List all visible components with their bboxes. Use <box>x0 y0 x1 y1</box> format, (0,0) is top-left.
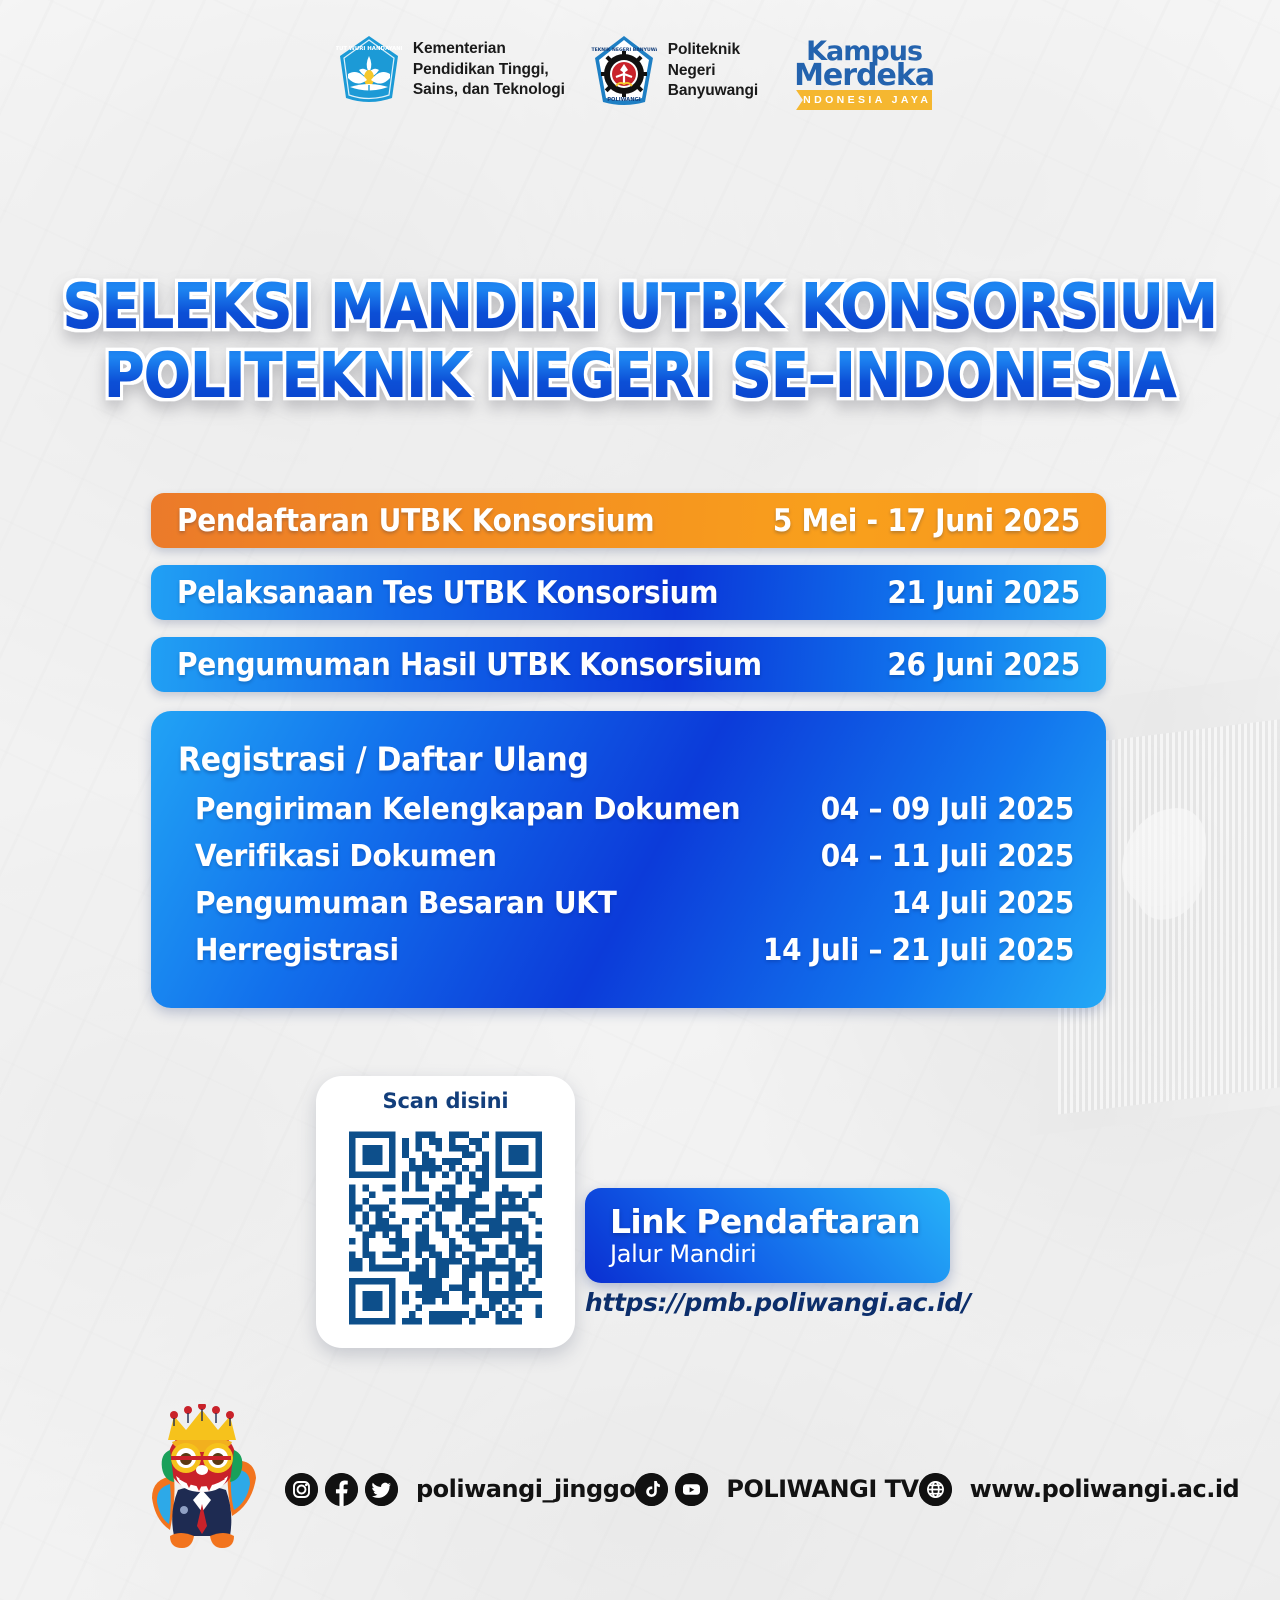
kampus-merdeka-logo: Kampus Merdeka INDONESIA JAYA <box>784 34 944 112</box>
qr-code-image[interactable] <box>349 1124 542 1332</box>
kampus-merdeka-ribbon: INDONESIA JAYA <box>796 90 932 110</box>
twitter-icon[interactable] <box>365 1473 398 1506</box>
registration-row: Verifikasi Dokumen 04 – 11 Juli 2025 <box>178 839 1076 872</box>
link-button-title: Link Pendaftaran <box>610 1202 950 1241</box>
logo-group-kemendikti: TUT WURI HANDAYANI Kementerian Pendidika… <box>336 34 565 106</box>
youtube-channel-name[interactable]: POLIWANGI TV <box>726 1475 918 1503</box>
instagram-handle[interactable]: poliwangi_jinggo <box>416 1475 635 1503</box>
youtube-icon[interactable] <box>675 1473 708 1506</box>
svg-text:POLIWANGI: POLIWANGI <box>607 97 641 103</box>
schedule-date: 26 Juni 2025 <box>887 646 1080 682</box>
kemendikti-label: Kementerian Pendidikan Tinggi, Sains, da… <box>413 39 565 100</box>
footer-group-social: poliwangi_jinggo <box>285 1473 635 1506</box>
kampus-merdeka-ribbon-text: INDONESIA JAYA <box>797 94 932 106</box>
registration-item-label: Pengiriman Kelengkapan Dokumen <box>195 791 740 827</box>
svg-text:TUT WURI HANDAYANI: TUT WURI HANDAYANI <box>336 46 402 52</box>
registration-title: Registrasi / Daftar Ulang <box>178 741 1076 780</box>
registration-item-date: 14 Juli – 21 Juli 2025 <box>763 932 1074 968</box>
schedule-bar-pengumuman: Pengumuman Hasil UTBK Konsorsium 26 Juni… <box>151 637 1106 692</box>
poliwangi-logo-icon: POLITEKNIK NEGERI BANYUWANGI <box>591 34 657 108</box>
schedule-date: 21 Juni 2025 <box>887 574 1080 610</box>
schedule-label: Pelaksanaan Tes UTBK Konsorsium <box>177 574 718 610</box>
registration-item-label: Pengumuman Besaran UKT <box>195 885 617 921</box>
website-url[interactable]: www.poliwangi.ac.id <box>970 1475 1240 1503</box>
link-pendaftaran-button[interactable]: Link Pendaftaran Jalur Mandiri <box>585 1188 950 1283</box>
registration-row: Pengiriman Kelengkapan Dokumen 04 – 09 J… <box>178 792 1076 825</box>
schedule-label: Pendaftaran UTBK Konsorsium <box>177 502 654 538</box>
link-button-subtitle: Jalur Mandiri <box>610 1240 950 1268</box>
logo-group-poliwangi: POLITEKNIK NEGERI BANYUWANGI <box>591 34 758 108</box>
registration-row: Herregistrasi 14 Juli – 21 Juli 2025 <box>178 933 1076 966</box>
tut-wuri-handayani-icon: TUT WURI HANDAYANI <box>336 34 402 106</box>
footer-social-bar: poliwangi_jinggo POLIWANGI TV <box>285 1462 1185 1516</box>
registration-row: Pengumuman Besaran UKT 14 Juli 2025 <box>178 886 1076 919</box>
registration-item-label: Verifikasi Dokumen <box>195 838 497 874</box>
qr-card[interactable]: Scan disini <box>316 1076 575 1348</box>
schedule-bar-pelaksanaan: Pelaksanaan Tes UTBK Konsorsium 21 Juni … <box>151 565 1106 620</box>
title-line-1: SELEKSI MANDIRI UTBK KONSORSIUM <box>0 268 1280 346</box>
schedule-bar-pendaftaran: Pendaftaran UTBK Konsorsium 5 Mei - 17 J… <box>151 493 1106 548</box>
globe-icon[interactable] <box>919 1473 952 1506</box>
poster-canvas: TUT WURI HANDAYANI Kementerian Pendidika… <box>0 0 1280 1600</box>
schedule-label: Pengumuman Hasil UTBK Konsorsium <box>177 646 762 682</box>
poliwangi-label: Politeknik Negeri Banyuwangi <box>668 40 758 101</box>
title-line-2: POLITEKNIK NEGERI SE–INDONESIA <box>0 337 1280 415</box>
tiktok-icon[interactable] <box>635 1473 668 1506</box>
kampus-merdeka-word2: Merdeka <box>784 58 944 93</box>
facebook-icon[interactable] <box>325 1473 358 1506</box>
footer-group-website: www.poliwangi.ac.id <box>919 1473 1240 1506</box>
page-title: SELEKSI MANDIRI UTBK KONSORSIUM POLITEKN… <box>0 268 1280 407</box>
qr-caption: Scan disini <box>316 1089 575 1113</box>
registration-item-date: 04 – 09 Juli 2025 <box>821 791 1074 827</box>
registration-item-label: Herregistrasi <box>195 932 399 968</box>
footer-group-video: POLIWANGI TV <box>635 1473 918 1506</box>
registration-item-date: 14 Juli 2025 <box>892 885 1074 921</box>
header-logo-strip: TUT WURI HANDAYANI Kementerian Pendidika… <box>0 34 1280 112</box>
jinggo-mascot-icon <box>142 1404 262 1564</box>
registration-panel: Registrasi / Daftar Ulang Pengiriman Kel… <box>151 711 1106 1008</box>
registration-url[interactable]: https://pmb.poliwangi.ac.id/ <box>585 1288 965 1317</box>
schedule-date: 5 Mei - 17 Juni 2025 <box>773 502 1080 538</box>
schedule-bar-list: Pendaftaran UTBK Konsorsium 5 Mei - 17 J… <box>151 493 1106 709</box>
instagram-icon[interactable] <box>285 1473 318 1506</box>
registration-item-date: 04 – 11 Juli 2025 <box>821 838 1074 874</box>
